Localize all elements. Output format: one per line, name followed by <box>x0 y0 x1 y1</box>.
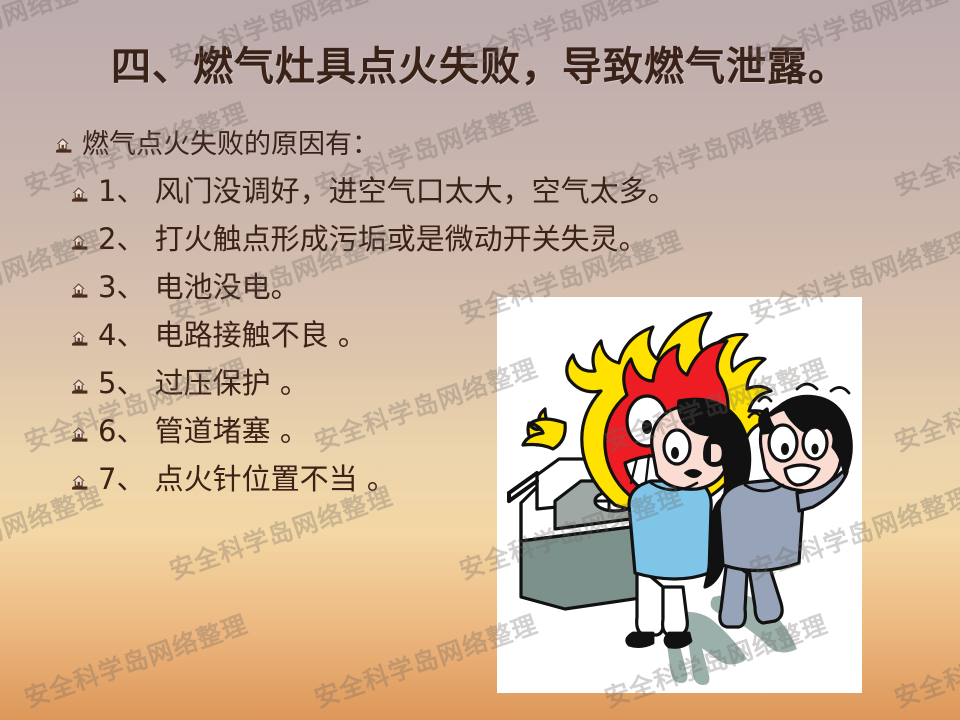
list-item-label: 5、 过压保护 。 <box>98 366 309 401</box>
house-on-hand-icon <box>70 233 89 252</box>
list-item-label: 3、 电池没电。 <box>98 270 300 305</box>
house-on-hand-icon <box>70 281 89 300</box>
watermark-text: 安全科学岛网络整理 <box>889 605 960 715</box>
watermark-text: 安全科学岛网络整理 <box>889 93 960 203</box>
house-on-hand-icon <box>70 377 89 396</box>
list-item-label: 4、 电路接触不良 。 <box>98 318 367 353</box>
house-on-hand-icon <box>70 425 89 444</box>
list-item-label: 7、 点火针位置不当 。 <box>98 462 396 497</box>
slide-canvas: 四、燃气灶具点火失败，导致燃气泄露。 燃气点火失败的原因有： <box>0 0 960 720</box>
house-on-hand-icon <box>70 473 89 492</box>
watermark-text: 安全科学岛网络整理 <box>19 605 252 715</box>
list-item-label: 6、 管道堵塞 。 <box>98 414 309 449</box>
house-on-hand-icon <box>54 136 73 155</box>
house-on-hand-icon <box>70 185 89 204</box>
list-item-label: 燃气点火失败的原因有： <box>82 128 379 161</box>
list-item-label: 1、 风门没调好，进空气口太大，空气太多。 <box>98 174 677 209</box>
gas-stove-flame-monster-illustration <box>497 297 862 693</box>
watermark-text: 安全科学岛网络整理 <box>889 349 960 459</box>
house-on-hand-icon <box>70 329 89 348</box>
list-item: 2、 打火触点形成污垢或是微动开关失灵。 <box>70 222 754 257</box>
page-title: 四、燃气灶具点火失败，导致燃气泄露。 <box>0 34 960 92</box>
list-item: 燃气点火失败的原因有： <box>54 128 754 161</box>
list-item: 1、 风门没调好，进空气口太大，空气太多。 <box>70 174 754 209</box>
list-item-label: 2、 打火触点形成污垢或是微动开关失灵。 <box>98 222 648 257</box>
